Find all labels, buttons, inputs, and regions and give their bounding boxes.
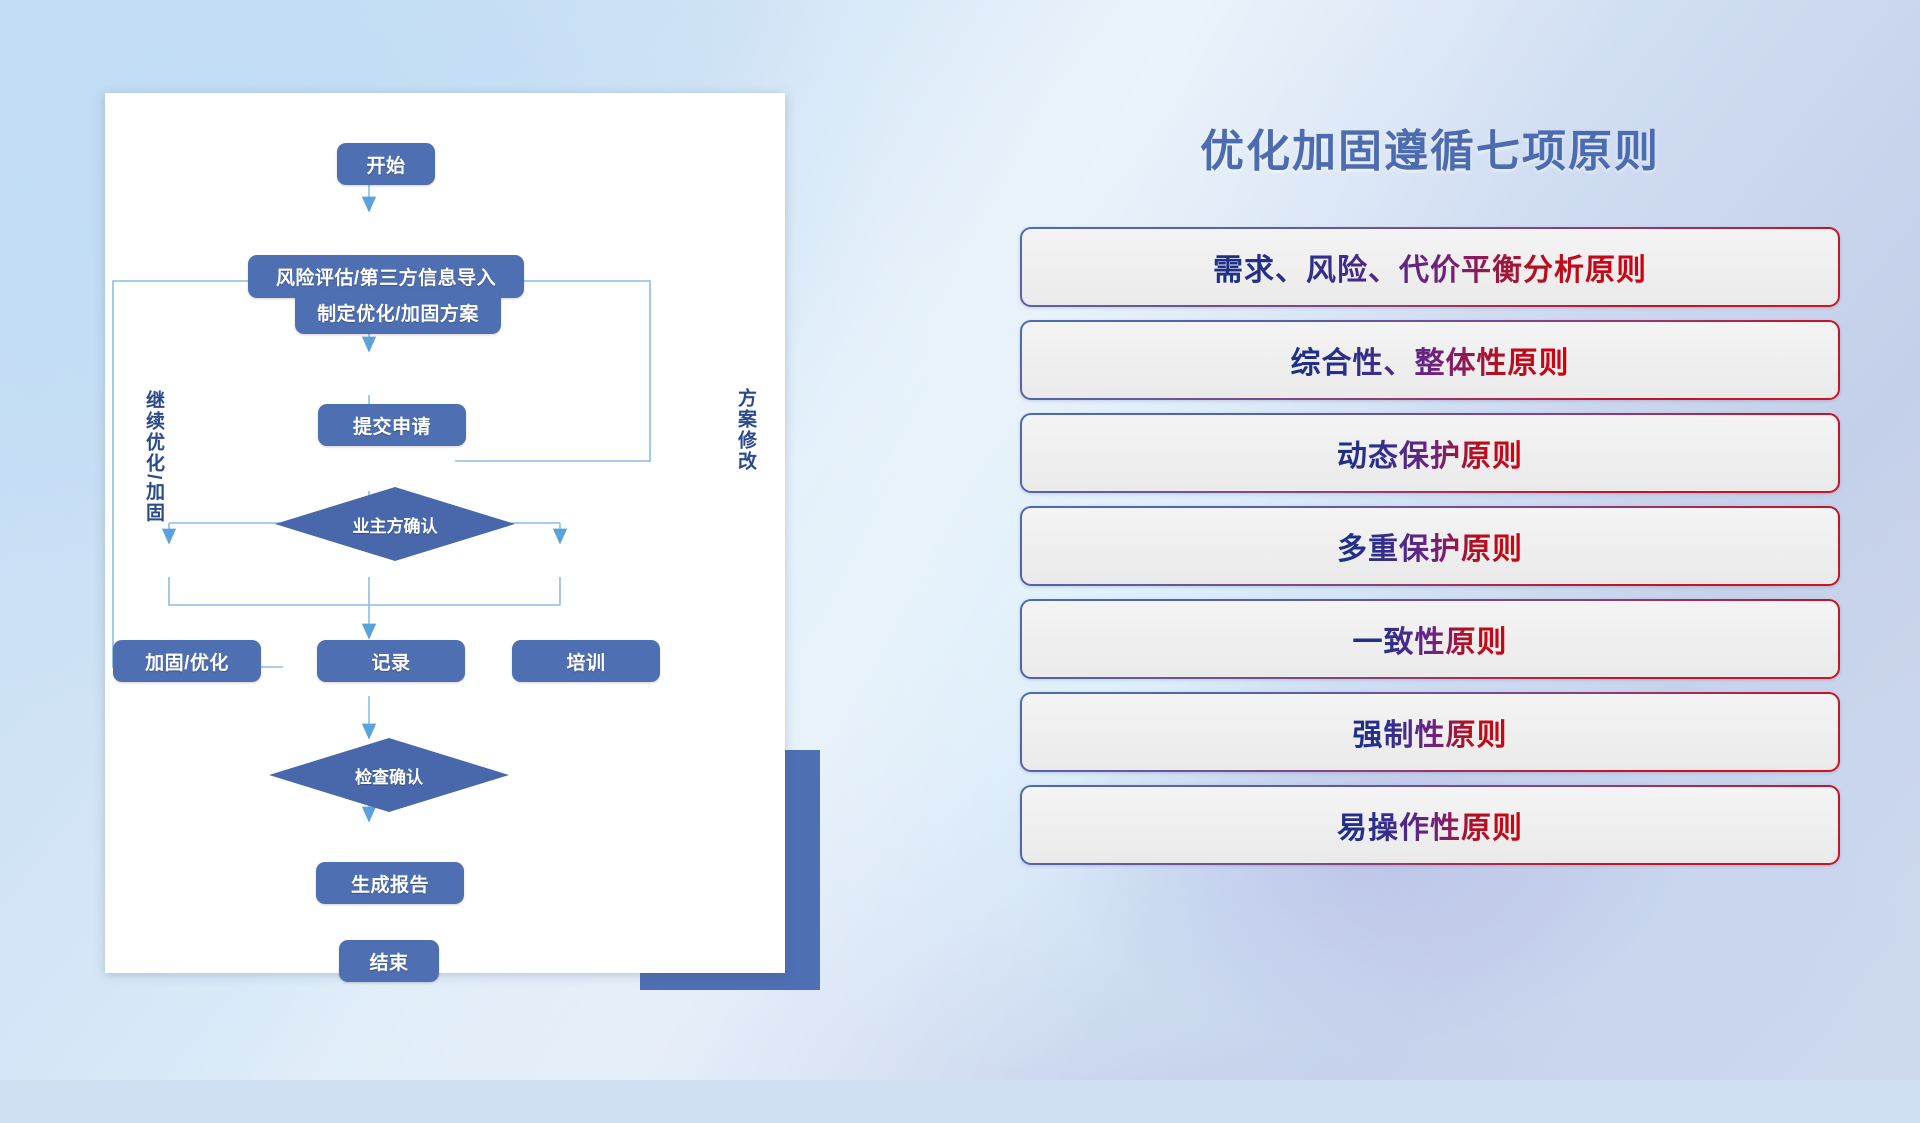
principles-list: 需求、风险、代价平衡分析原则 综合性、整体性原则 动态保护原则 多重保护原则 一…: [1020, 227, 1840, 878]
flow-node-label: 制定优化/加固方案: [317, 299, 479, 326]
principle-card-2[interactable]: 综合性、整体性原则: [1020, 320, 1840, 400]
principle-card-4[interactable]: 多重保护原则: [1020, 506, 1840, 586]
flow-node-label: 加固/优化: [145, 648, 229, 675]
principle-card-inner: 易操作性原则: [1022, 787, 1838, 863]
principle-card-5[interactable]: 一致性原则: [1020, 599, 1840, 679]
principle-card-6[interactable]: 强制性原则: [1020, 692, 1840, 772]
principle-label: 动态保护原则: [1337, 431, 1523, 475]
flow-node-owner-confirm[interactable]: 业主方确认: [275, 487, 515, 561]
flow-node-start[interactable]: 开始: [337, 143, 435, 185]
principle-label: 综合性、整体性原则: [1291, 338, 1570, 382]
principle-card-inner: 强制性原则: [1022, 694, 1838, 770]
flow-node-check-confirm[interactable]: 检查确认: [269, 738, 509, 812]
flow-node-label: 生成报告: [351, 870, 429, 897]
principle-card-inner: 多重保护原则: [1022, 508, 1838, 584]
principle-card-inner: 综合性、整体性原则: [1022, 322, 1838, 398]
flow-node-record[interactable]: 记录: [317, 640, 465, 682]
flow-node-label: 开始: [366, 151, 405, 178]
flow-node-submit-application[interactable]: 提交申请: [318, 404, 466, 446]
flow-node-generate-report[interactable]: 生成报告: [316, 862, 464, 904]
principle-label: 一致性原则: [1353, 617, 1508, 661]
flow-node-make-plan[interactable]: 制定优化/加固方案: [295, 290, 501, 334]
flow-edge-label-plan-revision: 方案修改: [735, 388, 755, 518]
flow-node-label: 提交申请: [353, 412, 431, 439]
principle-card-inner: 一致性原则: [1022, 601, 1838, 677]
principle-label: 易操作性原则: [1337, 803, 1523, 847]
flow-node-label: 业主方确认: [353, 512, 438, 537]
principle-card-1[interactable]: 需求、风险、代价平衡分析原则: [1020, 227, 1840, 307]
principle-label: 多重保护原则: [1337, 524, 1523, 568]
flow-node-label: 检查确认: [355, 763, 423, 788]
principle-card-inner: 需求、风险、代价平衡分析原则: [1022, 229, 1838, 305]
flow-node-label: 结束: [369, 948, 408, 975]
flow-edge-label-continue-optimize: 继续优化/加固: [143, 390, 163, 550]
principles-panel: 优化加固遵循七项原则 需求、风险、代价平衡分析原则 综合性、整体性原则 动态保护…: [1020, 90, 1840, 1020]
flow-node-reinforce-optimize[interactable]: 加固/优化: [113, 640, 261, 682]
flow-node-label: 培训: [566, 648, 605, 675]
flow-node-label: 风险评估/第三方信息导入: [276, 263, 496, 290]
flow-node-end[interactable]: 结束: [339, 940, 439, 982]
page-title: 优化加固遵循七项原则: [1020, 115, 1840, 179]
principle-card-3[interactable]: 动态保护原则: [1020, 413, 1840, 493]
principle-label: 强制性原则: [1353, 710, 1508, 754]
principle-label: 需求、风险、代价平衡分析原则: [1213, 245, 1647, 289]
principle-card-inner: 动态保护原则: [1022, 415, 1838, 491]
flow-node-training[interactable]: 培训: [512, 640, 660, 682]
flow-node-label: 记录: [371, 648, 410, 675]
principle-card-7[interactable]: 易操作性原则: [1020, 785, 1840, 865]
